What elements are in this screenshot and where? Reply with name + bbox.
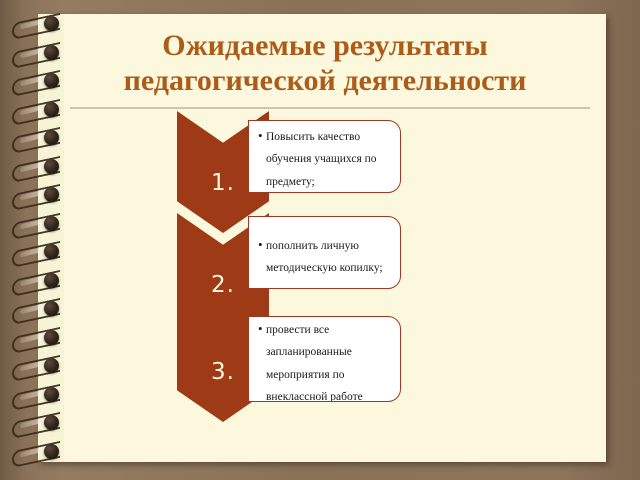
slide-canvas: Ожидаемые результаты педагогической деят… [0, 0, 640, 480]
callout-body-3: провести все запланированные мероприятия… [258, 319, 394, 402]
callout-body-2: пополнить личную методическую копилку; [258, 235, 394, 280]
callout-box-3: • провести все запланированные мероприят… [248, 316, 401, 402]
bullet-icon-1: • [258, 125, 263, 147]
callout-body-1: Повысить качество обучения учащихся по п… [258, 126, 394, 193]
callout-text-2: • пополнить личную методическую копилку; [258, 235, 394, 280]
bullet-icon-2: • [258, 234, 263, 256]
callout-box-2: • пополнить личную методическую копилку; [248, 216, 401, 289]
diagram-step-3[interactable]: 3. • провести все запланированные меропр… [177, 300, 407, 422]
callout-text-3: • провести все запланированные мероприят… [258, 319, 394, 402]
bullet-icon-3: • [258, 318, 263, 340]
callout-text-1: • Повысить качество обучения учащихся по… [258, 126, 394, 193]
expected-results-diagram: 1. • Повысить качество обучения учащихся… [0, 0, 640, 480]
callout-box-1: • Повысить качество обучения учащихся по… [248, 120, 401, 193]
